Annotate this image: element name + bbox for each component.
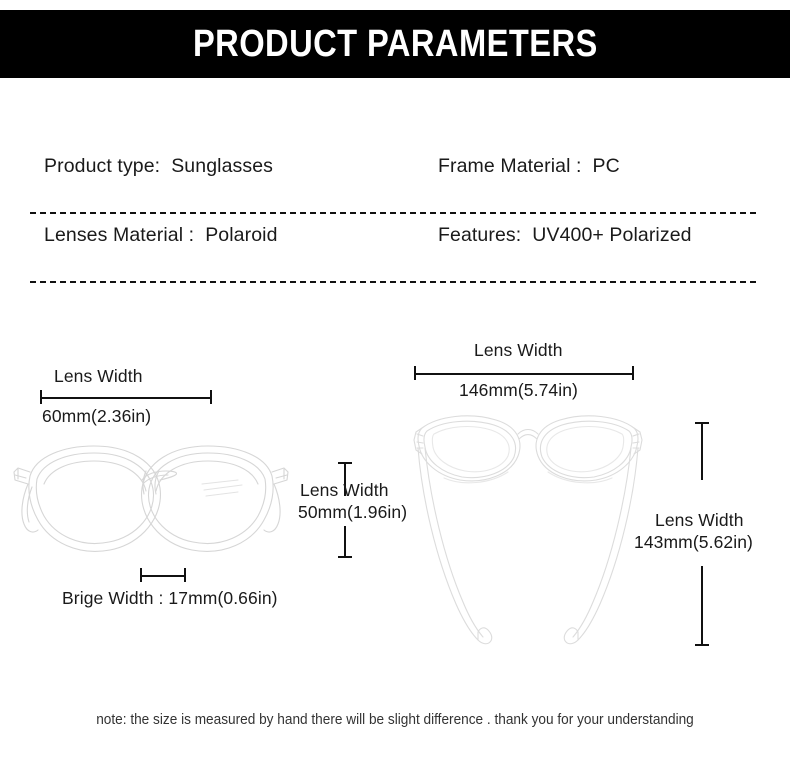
dimension-bar xyxy=(140,575,186,577)
dimension-cap-start xyxy=(414,366,416,380)
spec-value: PC xyxy=(593,155,620,177)
page-title: PRODUCT PARAMETERS xyxy=(193,23,598,66)
spec-label: Frame Material : xyxy=(438,155,582,177)
spec-value: Sunglasses xyxy=(171,155,273,177)
front-lens-height-value: 50mm(1.96in) xyxy=(298,502,407,523)
dimension-cap-end xyxy=(632,366,634,380)
spec-lenses-material: Lenses Material :Polaroid xyxy=(44,224,278,247)
bridge-width-dimension-line xyxy=(140,568,186,582)
temple-length-dimension-upper xyxy=(695,422,709,480)
temple-length-label: Lens Width xyxy=(655,510,744,531)
spec-label: Lenses Material : xyxy=(44,224,194,246)
dimension-bar xyxy=(40,397,212,399)
top-view-width-dimension-line xyxy=(414,366,634,380)
bridge-width-text: Brige Width : 17mm(0.66in) xyxy=(62,588,278,609)
temple-length-value: 143mm(5.62in) xyxy=(634,532,753,553)
spec-frame-material: Frame Material :PC xyxy=(438,155,620,178)
spec-features: Features:UV400+ Polarized xyxy=(438,224,692,247)
dimension-bar xyxy=(701,422,703,480)
dimension-bar xyxy=(701,566,703,646)
temple-length-dimension-lower xyxy=(695,566,709,646)
specs-row: Product type:Sunglasses Frame Material :… xyxy=(0,145,790,214)
header-banner: PRODUCT PARAMETERS xyxy=(0,10,790,78)
dimension-cap-end xyxy=(338,556,352,558)
specs-row: Lenses Material :Polaroid Features:UV400… xyxy=(0,214,790,283)
front-lens-width-dimension-line xyxy=(40,390,212,404)
dimension-diagrams: Lens Width 60mm(2.36in) xyxy=(0,290,790,690)
spec-divider xyxy=(30,281,756,283)
dimension-bar xyxy=(414,373,634,375)
dimension-cap-start xyxy=(140,568,142,582)
dimension-cap-start xyxy=(40,390,42,404)
front-lens-height-dimension-lower xyxy=(338,526,352,558)
front-lens-height-label: Lens Width xyxy=(300,480,389,501)
specs-table: Product type:Sunglasses Frame Material :… xyxy=(0,145,790,283)
top-view-width-value: 146mm(5.74in) xyxy=(459,380,578,401)
dimension-cap-end xyxy=(210,390,212,404)
dimension-cap-start xyxy=(695,422,709,424)
spec-product-type: Product type:Sunglasses xyxy=(44,155,273,178)
dimension-bar xyxy=(344,526,346,558)
sunglasses-top-view-line-art xyxy=(408,408,648,658)
top-view-width-label: Lens Width xyxy=(474,340,563,361)
spec-value: UV400+ Polarized xyxy=(532,224,691,246)
dimension-cap-start xyxy=(338,462,352,464)
dimension-cap-end xyxy=(184,568,186,582)
front-lens-width-label: Lens Width xyxy=(54,366,143,387)
spec-label: Features: xyxy=(438,224,521,246)
dimension-cap-end xyxy=(695,644,709,646)
measurement-disclaimer-note: note: the size is measured by hand there… xyxy=(24,712,767,728)
spec-value: Polaroid xyxy=(205,224,277,246)
spec-label: Product type: xyxy=(44,155,160,177)
front-lens-width-value: 60mm(2.36in) xyxy=(42,406,151,427)
sunglasses-front-view-line-art xyxy=(6,440,296,580)
